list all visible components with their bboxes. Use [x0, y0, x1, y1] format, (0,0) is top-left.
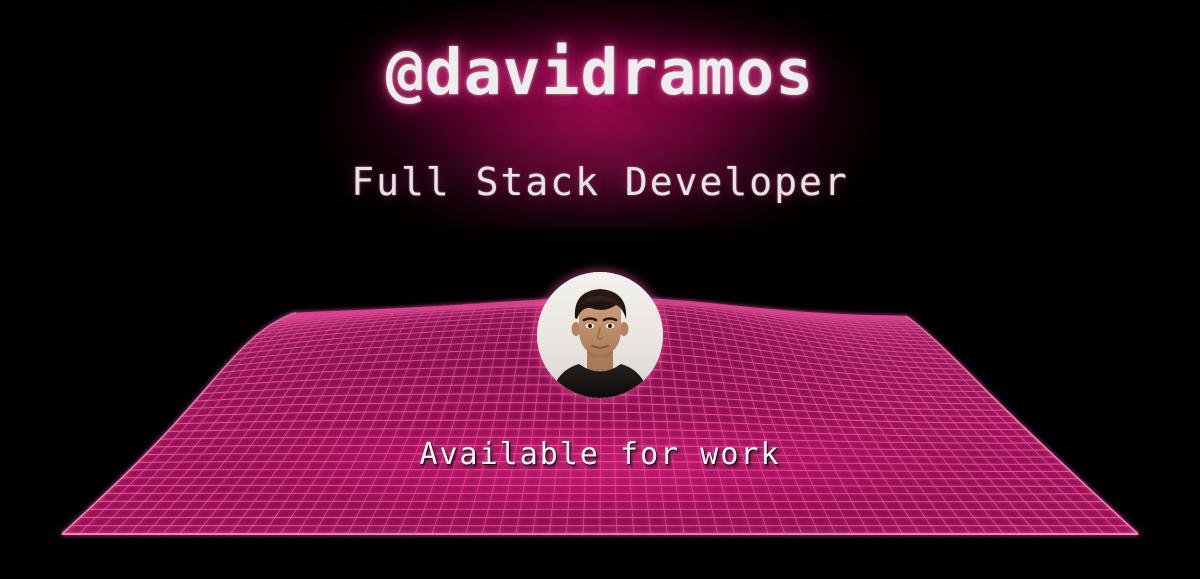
- profile-card-canvas: @davidramos Full Stack Developer Availab…: [0, 0, 1200, 579]
- avatar-photo: [537, 272, 663, 398]
- avatar[interactable]: [537, 272, 663, 398]
- role-subtitle: Full Stack Developer: [0, 160, 1200, 204]
- page-title: @davidramos: [0, 36, 1200, 109]
- availability-status: Available for work: [0, 437, 1200, 472]
